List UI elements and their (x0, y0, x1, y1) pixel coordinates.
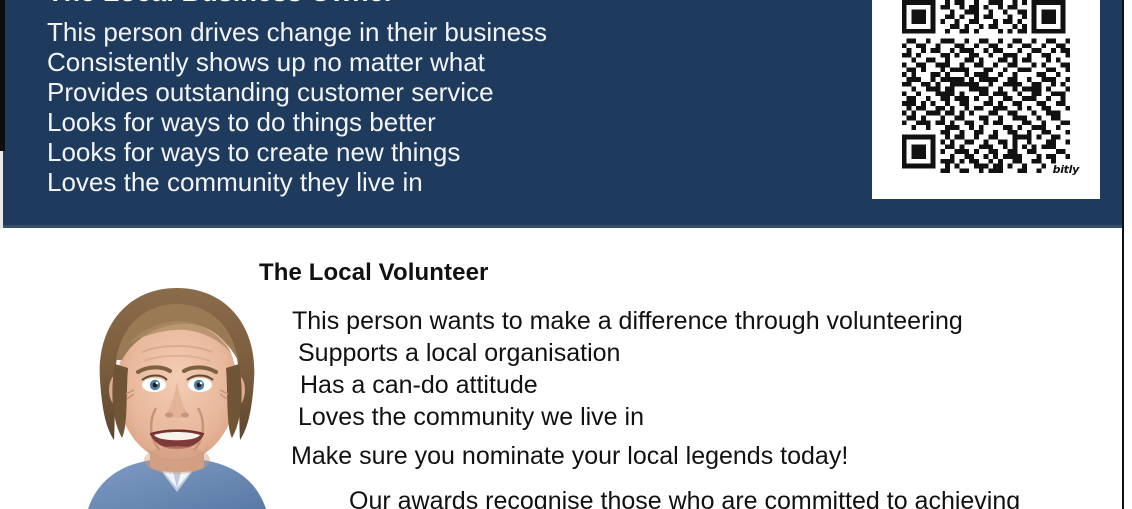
volunteer-bullet-list: This person wants to make a difference t… (0, 305, 963, 433)
list-item: Supports a local organisation (0, 337, 963, 369)
list-item: Looks for ways to create new things (47, 137, 547, 167)
list-item: Provides outstanding customer service (47, 77, 547, 107)
qr-code-image[interactable]: bitly (891, 0, 1081, 178)
left-edge-line (0, 151, 3, 229)
left-edge-mark (0, 0, 5, 151)
awards-footer-text: Our awards recognise those who are commi… (349, 486, 1020, 509)
list-item: Loves the community they live in (47, 167, 547, 197)
list-item: This person drives change in their busin… (47, 17, 547, 47)
business-owner-heading: The Local Business Owner (47, 0, 395, 8)
volunteer-heading: The Local Volunteer (259, 259, 489, 287)
list-item: Consistently shows up no matter what (47, 47, 547, 77)
list-item: Loves the community we live in (0, 401, 963, 433)
poster-slide: The Local Business Owner This person dri… (0, 0, 1132, 509)
qr-code-card[interactable]: bitly (872, 0, 1100, 199)
list-item: Has a can-do attitude (0, 369, 963, 401)
list-item: Looks for ways to do things better (47, 107, 547, 137)
business-owner-bullet-list: This person drives change in their busin… (47, 17, 547, 197)
nominate-call-to-action: Make sure you nominate your local legend… (291, 441, 848, 471)
list-item: This person wants to make a difference t… (0, 305, 963, 337)
bitly-brand-label: bitly (1053, 163, 1079, 176)
right-edge-rule (1122, 0, 1124, 509)
